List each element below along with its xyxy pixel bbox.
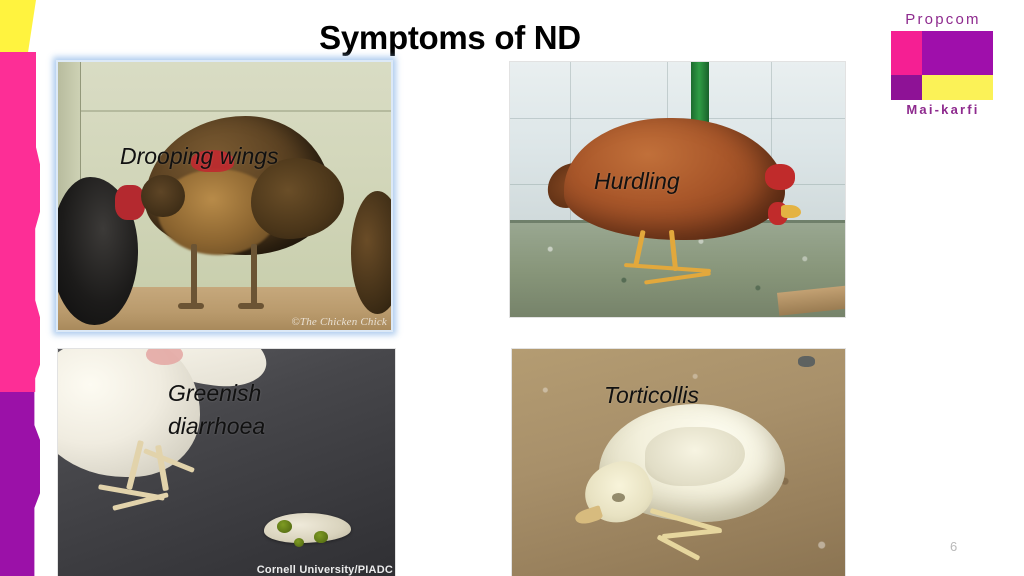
photo-caption-greenish-diarrhoea: Greenish diarrhoea: [168, 377, 265, 444]
ribbon-segment-purple: [0, 392, 40, 576]
page-number: 6: [950, 539, 957, 554]
photo-caption-drooping-wings: Drooping wings: [120, 140, 279, 173]
logo-word-bottom: Mai-karfi: [888, 103, 996, 116]
logo-cell-yellow: [922, 75, 993, 100]
logo-cell-dark-purple: [891, 75, 922, 100]
brown-hen-leg-right: [251, 244, 257, 308]
photo-hurdling[interactable]: Hurdling: [509, 61, 846, 318]
left-decorative-ribbon: [0, 0, 44, 576]
photo-torticollis[interactable]: Torticollis: [511, 348, 846, 576]
hen-comb: [765, 164, 795, 190]
black-hen-comb: [115, 185, 145, 220]
propcom-mai-karfi-logo: Propcom Mai-karfi: [888, 12, 996, 132]
brown-hen-leg-left: [191, 244, 197, 308]
stone: [798, 356, 815, 367]
page-title: Symptoms of ND: [140, 20, 760, 56]
photo-drooping-wings-artwork: [58, 62, 391, 330]
watermark-the-chicken-chick: ©The Chicken Chick: [291, 316, 387, 328]
photo-drooping-wings[interactable]: Drooping wings ©The Chicken Chick: [56, 60, 393, 332]
logo-word-top: Propcom: [888, 12, 996, 27]
ribbon-segment-yellow: [0, 0, 36, 52]
ribbon-segment-pink: [0, 52, 40, 392]
logo-cell-purple: [922, 31, 993, 75]
slide-canvas: Symptoms of ND Propcom Mai-karfi: [0, 0, 1024, 576]
photo-caption-hurdling: Hurdling: [594, 165, 680, 198]
brown-hen-foot-left: [178, 303, 204, 309]
green-dropping-spot: [277, 520, 292, 533]
watermark-cornell-university: Cornell University/PIADC: [257, 564, 393, 576]
green-dropping-spot: [314, 531, 327, 542]
photo-greenish-diarrhoea[interactable]: Greenish diarrhoea Cornell University/PI…: [57, 348, 396, 576]
coop-wall-seam: [58, 110, 391, 112]
logo-cell-pink: [891, 31, 922, 75]
chick-eye: [612, 493, 625, 502]
brown-hen-head: [141, 175, 184, 218]
brown-hen-foot-right: [238, 303, 264, 309]
photo-caption-torticollis: Torticollis: [604, 379, 699, 412]
logo-color-grid: [891, 31, 993, 100]
hen-beak: [781, 205, 801, 218]
